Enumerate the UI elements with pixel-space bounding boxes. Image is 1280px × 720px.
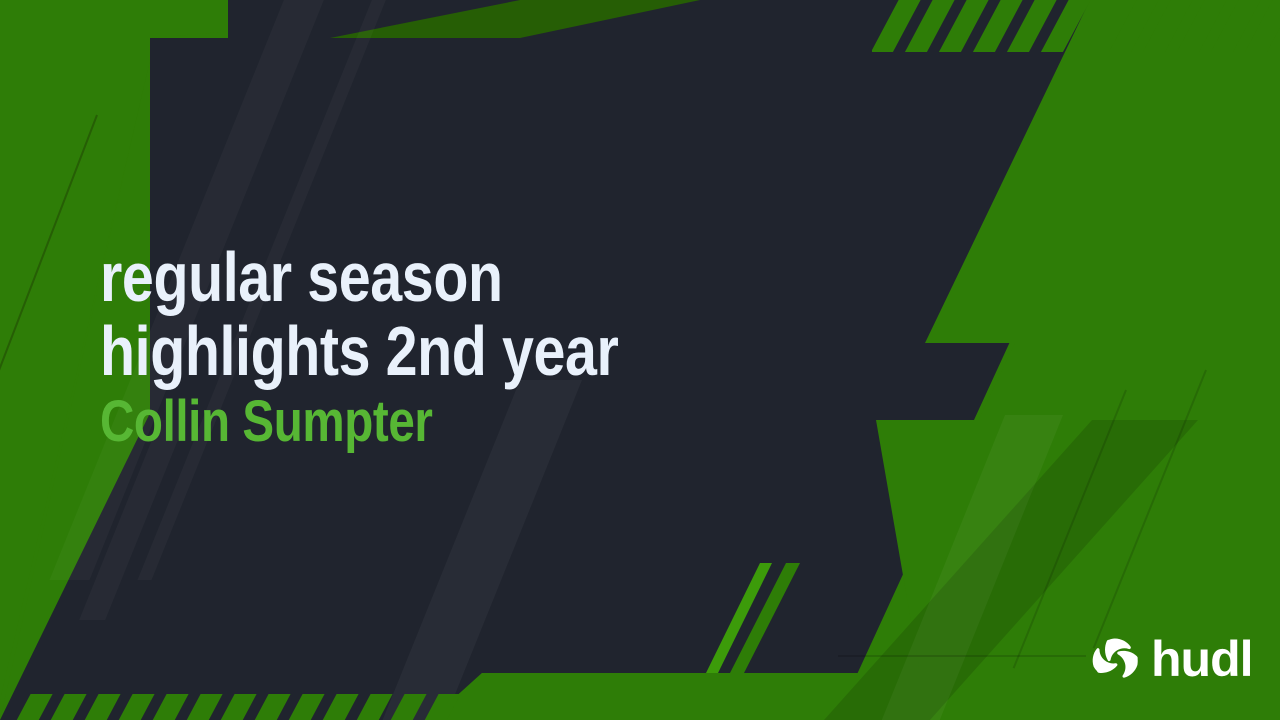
title-line-2: highlights 2nd year: [100, 314, 723, 388]
title-line-1: regular season: [100, 240, 723, 314]
hudl-pinwheel-icon: [1088, 635, 1142, 689]
hudl-logo-lockup: hudl: [1088, 634, 1253, 690]
highlight-title-card: regular season highlights 2nd year Colli…: [0, 0, 1280, 720]
title-block: regular season highlights 2nd year Colli…: [100, 240, 860, 454]
bottom-left-stripe-band: [0, 694, 700, 720]
athlete-name: Collin Sumpter: [100, 390, 723, 454]
top-right-stripe-band: [872, 0, 1280, 52]
hudl-wordmark: hudl: [1151, 634, 1253, 684]
